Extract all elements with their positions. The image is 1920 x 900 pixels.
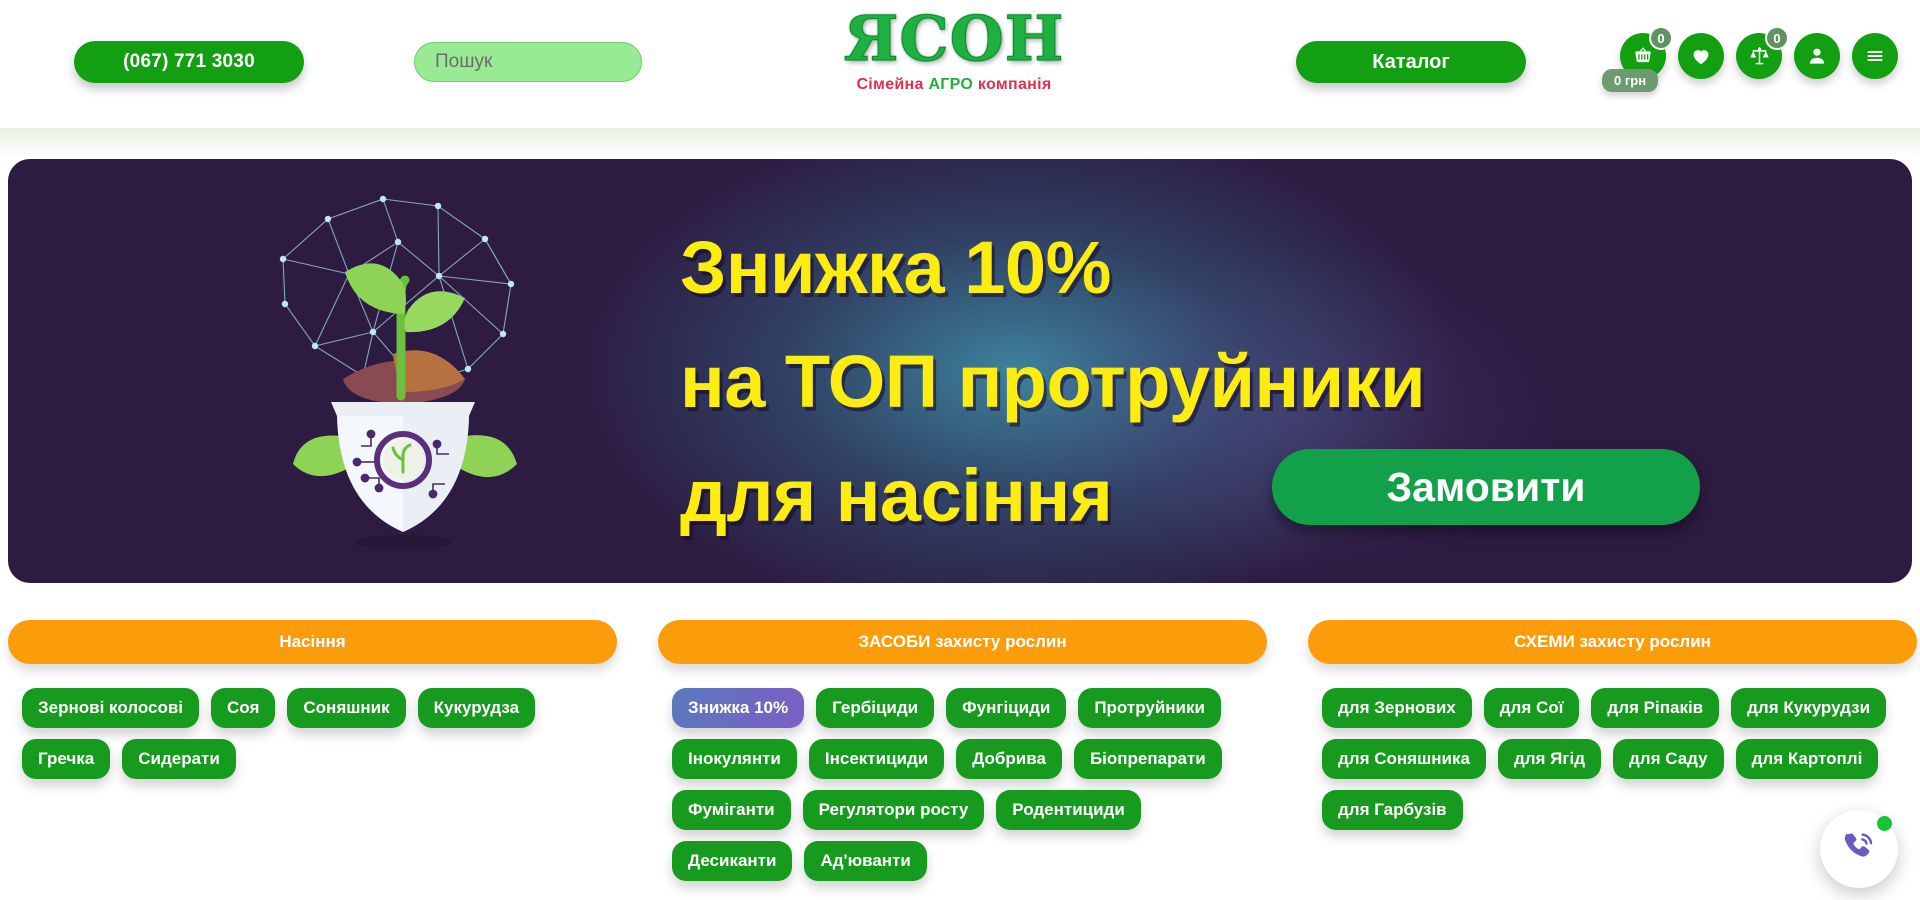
site-header: (067) 771 3030 Пошук ЯСОН Сімейна АГРО к… (0, 0, 1920, 128)
category-chip[interactable]: Регулятори росту (803, 790, 985, 830)
banner-line-1: Знижка 10% (680, 211, 1800, 325)
category-chip[interactable]: Кукурудза (418, 688, 535, 728)
column-header-schemes[interactable]: СХЕМИ захисту рослин (1308, 620, 1917, 664)
category-chip[interactable]: Протруйники (1078, 688, 1221, 728)
phone-call-icon (1839, 827, 1879, 872)
category-column-protection: ЗАСОБИ захисту рослин Знижка 10%Гербіцид… (658, 620, 1267, 881)
category-chip[interactable]: Фуміганти (672, 790, 791, 830)
category-chip[interactable]: для Соняшника (1322, 739, 1486, 779)
header-icon-group: 0 0 грн (1620, 33, 1898, 79)
category-chip[interactable]: Гербіциди (816, 688, 934, 728)
chip-list-seeds: Зернові колосовіСояСоняшникКукурудзаГреч… (8, 688, 617, 779)
category-chip[interactable]: Десиканти (672, 841, 792, 881)
chip-list-protection: Знижка 10%ГербіцидиФунгіцидиПротруйникиІ… (658, 688, 1267, 881)
cart-count-badge: 0 (1649, 26, 1673, 50)
category-column-schemes: СХЕМИ захисту рослин для Зерновихдля Сої… (1308, 620, 1917, 830)
search-input[interactable]: Пошук (414, 42, 642, 82)
column-header-seeds[interactable]: Насіння (8, 620, 617, 664)
category-chip[interactable]: для Гарбузів (1322, 790, 1463, 830)
category-chip[interactable]: для Сої (1484, 688, 1580, 728)
header-underline-tint (0, 128, 1920, 158)
heart-icon (1689, 44, 1713, 68)
cart-button[interactable]: 0 0 грн (1620, 33, 1666, 79)
category-chip[interactable]: Інсектициди (809, 739, 944, 779)
category-column-seeds: Насіння Зернові колосовіСояСоняшникКукур… (8, 620, 617, 779)
column-header-protection[interactable]: ЗАСОБИ захисту рослин (658, 620, 1267, 664)
category-chip[interactable]: Біопрепарати (1074, 739, 1222, 779)
wishlist-button[interactable] (1678, 33, 1724, 79)
category-chip[interactable]: Інокулянти (672, 739, 797, 779)
category-chip[interactable]: Фунгіциди (946, 688, 1066, 728)
scales-icon (1747, 44, 1772, 69)
category-chip[interactable]: Добрива (956, 739, 1062, 779)
basket-icon (1631, 44, 1655, 68)
viber-call-button[interactable] (1820, 810, 1898, 888)
seedling-illustration (253, 164, 553, 574)
category-chip[interactable]: Знижка 10% (672, 688, 804, 728)
category-chip[interactable]: Родентициди (996, 790, 1141, 830)
catalog-button[interactable]: Каталог (1296, 41, 1526, 83)
compare-button[interactable]: 0 (1736, 33, 1782, 79)
category-chip[interactable]: для Ріпаків (1591, 688, 1719, 728)
category-chip[interactable]: для Кукурудзи (1731, 688, 1886, 728)
search-placeholder-text: Пошук (435, 51, 492, 73)
category-chip[interactable]: Ад'юванти (804, 841, 926, 881)
account-button[interactable] (1794, 33, 1840, 79)
online-status-dot (1877, 816, 1892, 831)
logo-tagline-part1: Сімейна (856, 76, 923, 93)
phone-button[interactable]: (067) 771 3030 (74, 41, 304, 83)
user-icon (1805, 44, 1829, 68)
category-chip[interactable]: для Картоплі (1736, 739, 1879, 779)
category-chip[interactable]: для Саду (1613, 739, 1724, 779)
logo-tagline: Сімейна АГРО компанія (856, 76, 1051, 94)
category-chip[interactable]: для Ягід (1498, 739, 1601, 779)
site-logo[interactable]: ЯСОН Сімейна АГРО компанія (820, 8, 1088, 116)
logo-tagline-part2: АГРО (928, 76, 973, 93)
category-chip[interactable]: для Зернових (1322, 688, 1472, 728)
order-button[interactable]: Замовити (1272, 449, 1700, 525)
chip-list-schemes: для Зерновихдля Соїдля Ріпаківдля Кукуру… (1308, 688, 1917, 830)
compare-count-badge: 0 (1765, 26, 1789, 50)
category-chip[interactable]: Сидерати (122, 739, 236, 779)
category-chip[interactable]: Зернові колосові (22, 688, 199, 728)
hamburger-menu-icon (1863, 44, 1887, 68)
banner-line-2: на ТОП протруйники (680, 325, 1800, 439)
page-root: (067) 771 3030 Пошук ЯСОН Сімейна АГРО к… (0, 0, 1920, 900)
category-chip[interactable]: Соя (211, 688, 275, 728)
cart-total-label: 0 грн (1602, 69, 1658, 92)
category-chip[interactable]: Соняшник (287, 688, 405, 728)
menu-button[interactable] (1852, 33, 1898, 79)
category-chip[interactable]: Гречка (22, 739, 110, 779)
logo-tagline-part3: компанія (978, 76, 1052, 93)
logo-wordmark: ЯСОН (844, 8, 1065, 70)
